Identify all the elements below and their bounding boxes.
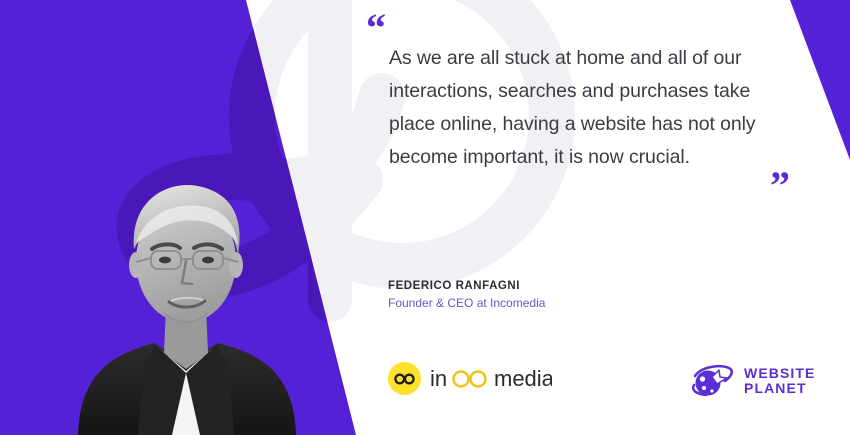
testimonial-card: “ ” As we are all stuck at home and all … xyxy=(0,0,850,435)
incomedia-wordmark: in media xyxy=(430,365,552,393)
infinity-icon xyxy=(394,373,415,385)
incomedia-wordmark-icon: in media xyxy=(430,365,552,393)
wp-line-2: PLANET xyxy=(744,381,815,396)
attribution-name: FEDERICO RANFAGNI xyxy=(388,280,545,292)
attribution-role: Founder & CEO at Incomedia xyxy=(388,296,545,310)
website-planet-logo[interactable]: WEBSITE PLANET xyxy=(686,362,815,400)
incomedia-text-in: in xyxy=(430,366,447,391)
quote-open-icon: “ xyxy=(366,8,386,48)
attribution: FEDERICO RANFAGNI Founder & CEO at Incom… xyxy=(388,280,545,310)
incomedia-logo[interactable]: in media xyxy=(388,362,552,395)
incomedia-badge xyxy=(388,362,421,395)
wp-line-1: WEBSITE xyxy=(744,366,815,381)
planet-rocket-icon xyxy=(686,362,736,400)
incomedia-text-media: media xyxy=(494,366,552,391)
quote-text: As we are all stuck at home and all of o… xyxy=(389,42,789,174)
website-planet-wordmark: WEBSITE PLANET xyxy=(744,366,815,396)
